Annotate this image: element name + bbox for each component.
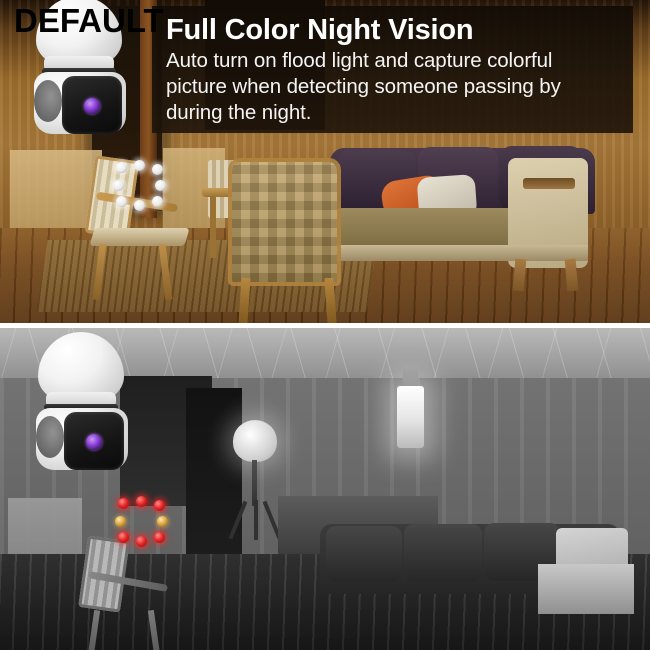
infrared-led — [157, 516, 168, 527]
camera-lens — [84, 98, 100, 114]
camera-lens — [86, 434, 102, 450]
sofa-cushion — [404, 524, 482, 582]
tv-console — [538, 564, 634, 614]
floor-lamp-shade — [233, 420, 277, 462]
wooden-chair-seat — [89, 228, 189, 246]
overlay-body-line: during the night. — [166, 100, 619, 126]
infrared-led — [136, 496, 147, 507]
floodlight-led — [152, 196, 163, 207]
infrared-led — [115, 516, 126, 527]
sofa-armrest-slot — [523, 178, 575, 189]
infrared-led — [118, 532, 129, 543]
product-feature-image: Full Color Night Vision Auto turn on flo… — [0, 0, 650, 650]
infrared-led — [118, 498, 129, 509]
panel-full-color-night-vision: Full Color Night Vision Auto turn on flo… — [0, 0, 650, 323]
woven-chair — [232, 162, 337, 282]
overlay-body-line: picture when detecting someone passing b… — [166, 74, 619, 100]
camera-side-vent — [34, 80, 62, 122]
floodlight-led — [113, 180, 124, 191]
sofa-base — [330, 245, 588, 261]
bulb-security-camera-infrared — [16, 332, 148, 472]
sofa-cushion — [326, 526, 402, 582]
floodlight-led — [152, 164, 163, 175]
wall-sconce-mount — [403, 366, 418, 386]
default-badge: DEFAULT — [14, 2, 164, 40]
overlay-body-line: Auto turn on flood light and capture col… — [166, 48, 619, 74]
overlay-title-full-color: Full Color Night Vision — [166, 12, 619, 48]
wall-sconce-light — [397, 386, 424, 448]
floodlight-led — [134, 160, 145, 171]
overlay-full-color-night-vision: Full Color Night Vision Auto turn on flo… — [152, 6, 633, 133]
camera-side-vent — [36, 416, 64, 458]
infrared-led — [136, 536, 147, 547]
infrared-led — [154, 500, 165, 511]
floodlight-led — [155, 180, 166, 191]
floor-lamp-leg — [254, 500, 258, 540]
panel-infrared-night-vision: Infrared Night Vision Capture the scene … — [0, 328, 650, 650]
side-table-leg — [210, 196, 216, 258]
infrared-led — [154, 532, 165, 543]
floodlight-led — [116, 196, 127, 207]
floodlight-led — [116, 162, 127, 173]
floodlight-led — [134, 200, 145, 211]
